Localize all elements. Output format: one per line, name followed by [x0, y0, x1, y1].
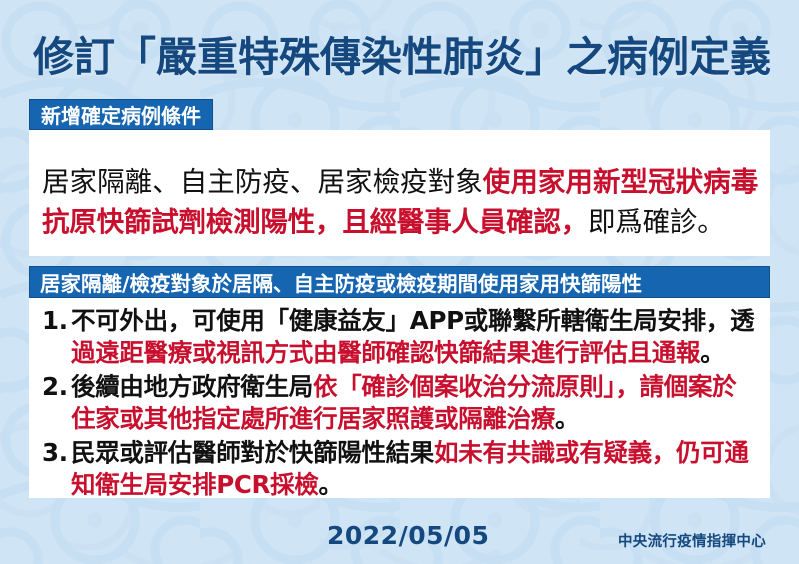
list-item-run-emphasis: 過遠距醫療或視訊方式由醫師確認快篩結果進行評估且通報 [71, 338, 700, 367]
content-panel-new-case-criteria: 居家隔離、自主防疫、居家檢疫對象使用家用新型冠狀病毒抗原快篩試劑檢測陽性，且經醫… [29, 130, 770, 256]
section-badge-new-case-criteria: 新增確定病例條件 [29, 99, 213, 130]
list-item-run-plain-1: 後續由地方政府衛生局 [71, 372, 313, 401]
list-item-run-plain-2: 。 [700, 338, 724, 367]
list-item-run-plain-2: 。 [319, 470, 343, 499]
list-item: 2.後續由地方政府衛生局依「確診個案收治分流原則」，請個案於住家或其他指定處所進… [42, 371, 758, 434]
list-item: 1.不可外出，可使用「健康益友」APP或聯繫所轄衛生局安排，透過遠距醫療或視訊方… [42, 305, 758, 368]
section-badge-home-quarantine-positive: 居家隔離/檢疫對象於居隔、自主防疫或檢疫期間使用家用快篩陽性 [29, 266, 770, 298]
instruction-list: 1.不可外出，可使用「健康益友」APP或聯繫所轄衛生局安排，透過遠距醫療或視訊方… [42, 305, 758, 500]
criteria-run-plain-2: 即爲確診。 [588, 206, 725, 238]
list-item-run-plain-1: 民眾或評估醫師對於快篩陽性結果 [71, 438, 434, 467]
footer-date: 2022/05/05 [327, 521, 489, 550]
list-item-run-plain-2: 。 [555, 404, 579, 433]
criteria-run-plain-1: 居家隔離、自主防疫、居家檢疫對象 [42, 166, 483, 198]
list-item: 3.民眾或評估醫師對於快篩陽性結果如未有共識或有疑義，仍可通知衛生局安排PCR採… [42, 437, 758, 500]
section-badge-label: 居家隔離/檢疫對象於居隔、自主防疫或檢疫期間使用家用快篩陽性 [40, 267, 642, 297]
footer-agency-name: 中央流行疫情指揮中心 [618, 530, 766, 551]
criteria-paragraph: 居家隔離、自主防疫、居家檢疫對象使用家用新型冠狀病毒抗原快篩試劑檢測陽性，且經醫… [42, 162, 758, 242]
page-title: 修訂「嚴重特殊傳染性肺炎」之病例定義 [28, 22, 776, 84]
content-panel-instructions: 1.不可外出，可使用「健康益友」APP或聯繫所轄衛生局安排，透過遠距醫療或視訊方… [29, 298, 770, 498]
list-item-number: 2. [42, 371, 68, 403]
list-item-number: 1. [42, 305, 68, 337]
list-item-number: 3. [42, 437, 68, 469]
list-item-run-plain-1: 不可外出，可使用「健康益友」APP或聯繫所轄衛生局安排，透 [71, 306, 754, 335]
poster-root: 修訂「嚴重特殊傳染性肺炎」之病例定義 新增確定病例條件 居家隔離、自主防疫、居家… [0, 0, 799, 564]
section-badge-label: 新增確定病例條件 [41, 100, 201, 129]
